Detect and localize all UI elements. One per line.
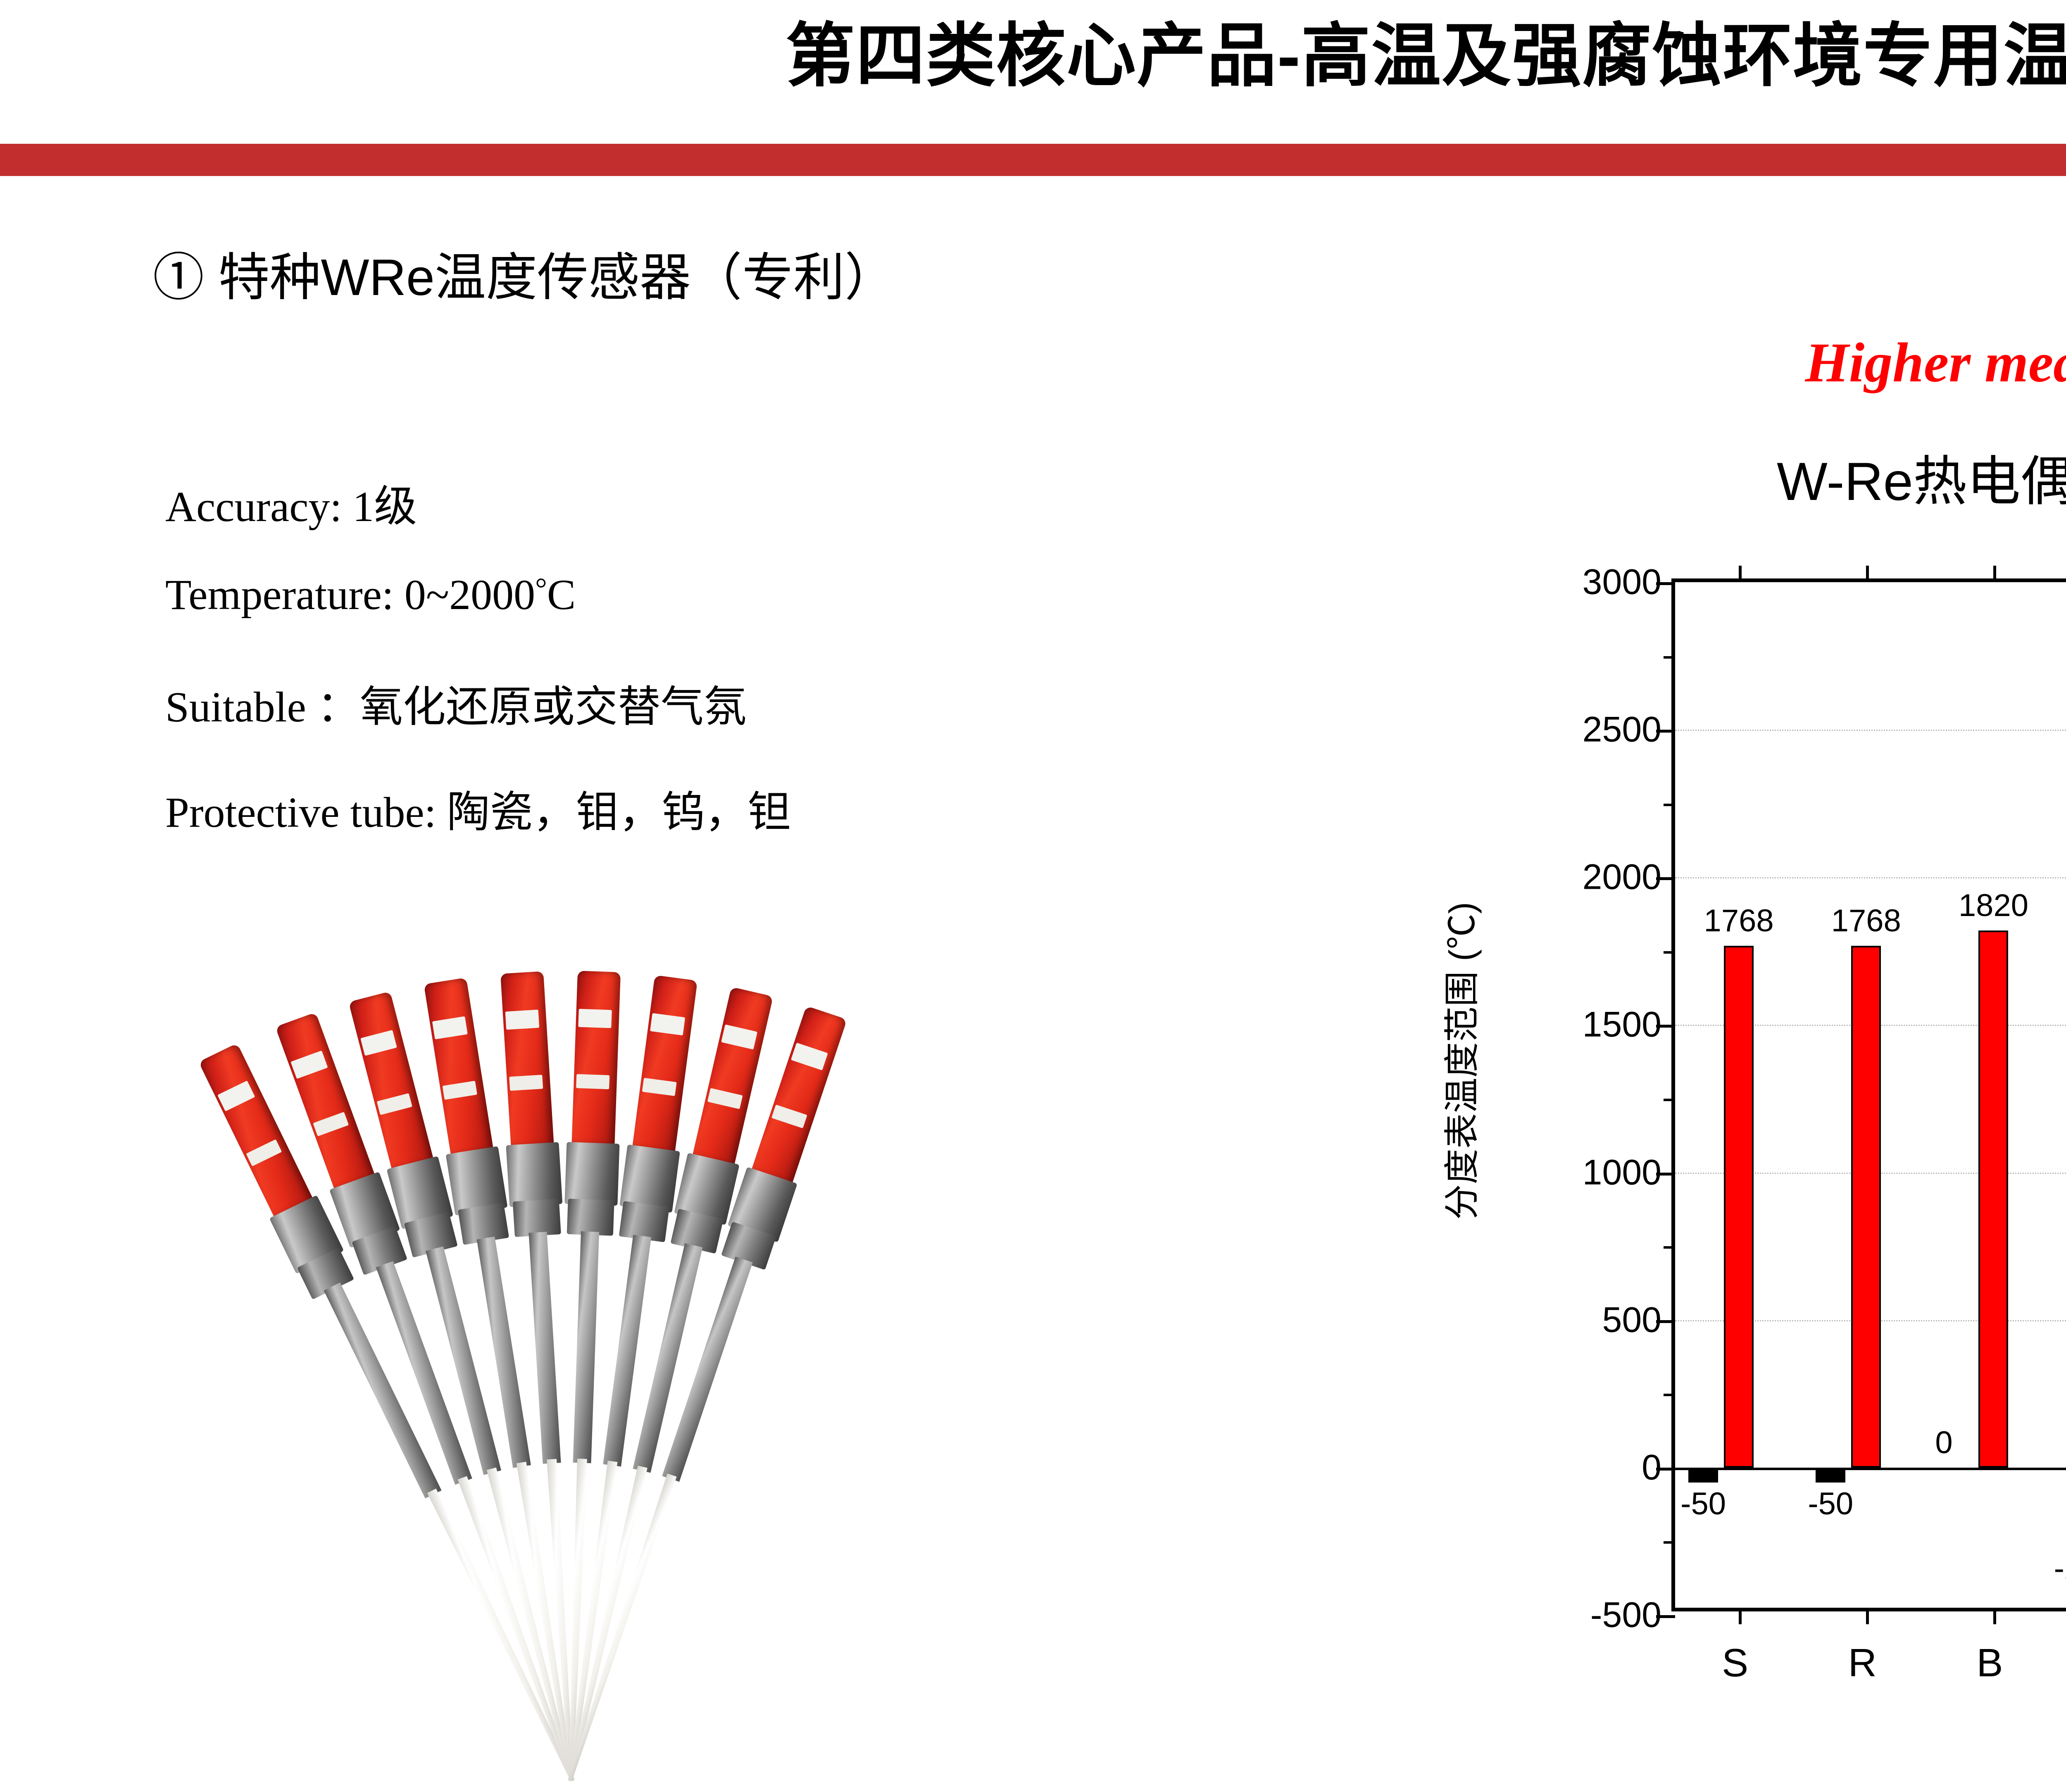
degree-symbol: ° [535, 572, 547, 605]
spec-tube-label: Protective tube: [165, 789, 436, 836]
chart-bar-max [1724, 946, 1754, 1468]
chart-y-tick-label: 0 [1447, 1447, 1661, 1488]
chart-bar-max-label: 1300 [2047, 1041, 2066, 1077]
chart-bar-min-label: -50 [1756, 1486, 1905, 1522]
spec-accuracy-value: 1级 [352, 483, 417, 531]
chart-y-minor-tick [1664, 1246, 1675, 1249]
chart-plot-area: -5000500100015002000250030001768-501768-… [1671, 578, 2066, 1611]
thermocouple-range-chart: 分度表温度范围 (℃) -500050010001500200025003000… [1405, 578, 2066, 1777]
chart-x-category-label: B [1915, 1640, 2064, 1686]
chart-bar-max-label: 1820 [1919, 888, 2066, 923]
chart-bar-min [1688, 1468, 1718, 1483]
chart-x-tick-top [1739, 566, 1742, 582]
spec-temperature-label: Temperature: [165, 571, 394, 619]
banner-accent-red [0, 144, 2066, 176]
chart-bar-min-label: -50 [1629, 1486, 1778, 1522]
headline-english: Higher measured temperature, Lower cost. [1459, 331, 2066, 395]
chart-y-minor-tick [1664, 656, 1675, 659]
spec-suitable: Suitable ：氧化还原或交替气氛 [165, 671, 747, 734]
chart-y-tick-label: 2000 [1447, 857, 1661, 898]
sensor-hex-nut [506, 1142, 562, 1207]
chart-y-minor-tick [1664, 1541, 1675, 1544]
sensor-head [751, 1006, 847, 1184]
chart-y-minor-tick [1664, 804, 1675, 806]
chart-x-tick-top [1866, 566, 1869, 582]
spec-protective-tube: Protective tube: 陶瓷，钼，钨，钽 [165, 777, 791, 839]
chart-bar-min-label: 0 [1869, 1425, 2018, 1461]
page-title: 第四类核心产品-高温及强腐蚀环境专用温度传感器 [512, 12, 2066, 103]
chart-x-tick [1739, 1608, 1742, 1624]
chart-bar-max-label: 1768 [1792, 903, 1940, 939]
chart-gridline [1675, 877, 2066, 878]
chart-y-minor-tick [1664, 1394, 1675, 1396]
chart-y-tick-label: 3000 [1447, 562, 1661, 603]
chart-y-minor-tick [1664, 1099, 1675, 1101]
chart-bar-max [1851, 946, 1881, 1468]
spec-tube-value: 陶瓷，钼，钨，钽 [447, 789, 791, 836]
spec-suitable-label: Suitable ： [165, 683, 360, 731]
chart-bar-max-label: 1768 [1664, 903, 1813, 939]
sensor-head [424, 978, 493, 1156]
product-photo [178, 839, 1025, 1777]
sensor-metal-stem [528, 1232, 561, 1464]
celsius-letter: C [547, 571, 576, 619]
chart-x-tick [1993, 1608, 1996, 1624]
sensor-head [693, 987, 774, 1166]
chart-x-axis-title: 热电偶分度号 [1671, 1706, 2066, 1761]
sensor-head [571, 971, 621, 1145]
sensor-head [500, 971, 554, 1147]
chart-y-minor-tick [1664, 951, 1675, 954]
chart-bar-min [1816, 1468, 1845, 1483]
spec-accuracy: Accuracy: 1级 [165, 471, 417, 533]
chart-x-tick [1866, 1608, 1869, 1624]
chart-y-tick-label: 500 [1447, 1299, 1661, 1340]
sensor-hex-nut-lower [567, 1199, 614, 1236]
chart-y-tick-label: 1500 [1447, 1004, 1661, 1045]
sensor-hex-nut-lower [513, 1199, 561, 1237]
headline-chinese: W-Re热电偶价格仅为铂铑热电偶的十分之一 [1459, 438, 2066, 516]
spec-temperature: Temperature: 0~2000°C [165, 570, 576, 619]
spec-suitable-value: 氧化还原或交替气氛 [360, 683, 747, 731]
spec-temperature-value: 0~2000 [405, 571, 535, 619]
chart-y-tick-label: -500 [1447, 1595, 1661, 1636]
chart-x-category-label: K [2043, 1640, 2066, 1686]
chart-x-category-label: R [1788, 1640, 1937, 1686]
section-heading: ① 特种WRe温度传感器（专利） [153, 236, 896, 310]
chart-x-category-label: S [1661, 1640, 1809, 1686]
chart-bar-min-label: -270 [2011, 1551, 2066, 1587]
sensor-hex-nut [564, 1142, 619, 1206]
chart-y-tick-label: 2500 [1447, 709, 1661, 750]
chart-gridline [1675, 730, 2066, 731]
chart-zero-line [1675, 1468, 2066, 1470]
sensor-head [632, 975, 697, 1153]
chart-x-tick-top [1993, 566, 1996, 582]
chart-y-tick-label: 1000 [1447, 1152, 1661, 1193]
spec-accuracy-label: Accuracy: [165, 483, 342, 531]
chart-bar-max [1978, 931, 2008, 1468]
